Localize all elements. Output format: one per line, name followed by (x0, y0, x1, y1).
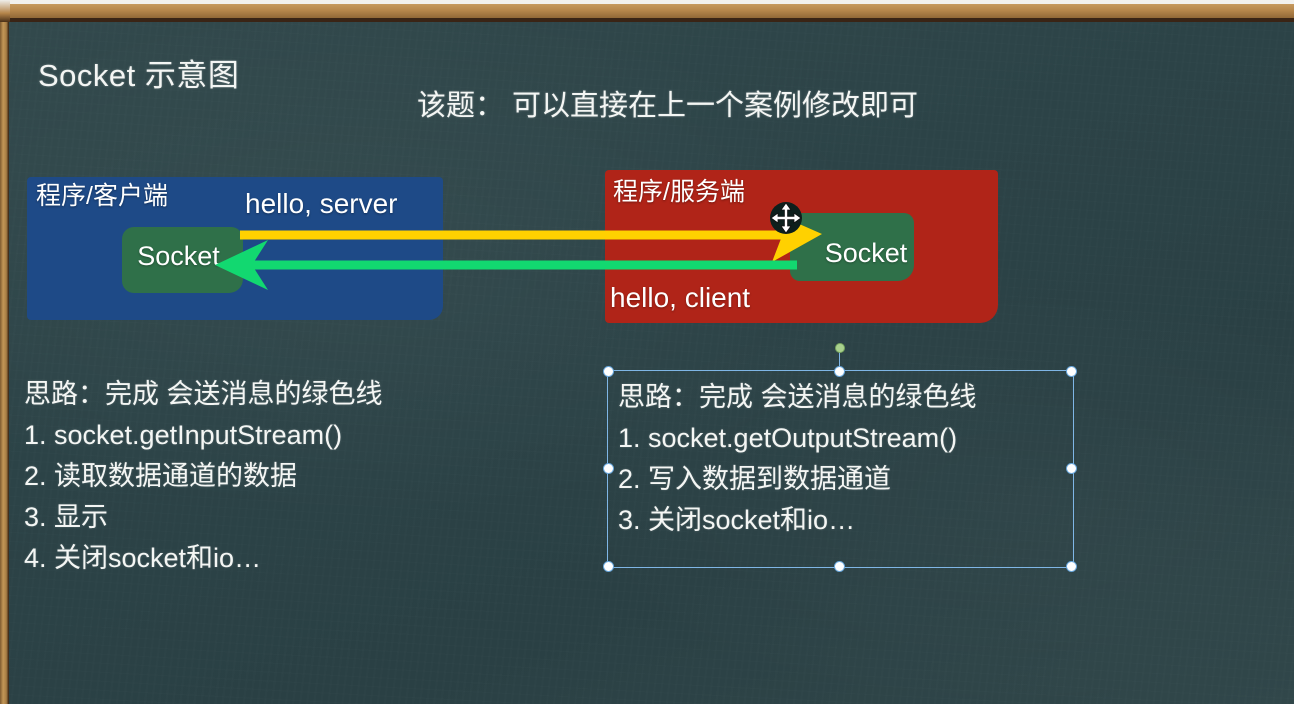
client-socket-label: Socket (137, 241, 220, 272)
message-to-server-label: hello, server (245, 188, 398, 220)
chalkboard-surface (9, 22, 1294, 704)
move-cursor-icon (766, 198, 806, 238)
server-socket-label: Socket (825, 238, 908, 269)
resize-handle-top-left[interactable] (603, 366, 614, 377)
message-to-client-label: hello, client (610, 282, 750, 314)
selection-frame[interactable] (607, 370, 1074, 568)
frame-left-wood (0, 4, 9, 704)
server-box-label: 程序/服务端 (613, 172, 745, 208)
resize-handle-bottom-middle[interactable] (834, 561, 845, 572)
client-box-label: 程序/客户端 (36, 176, 168, 212)
frame-top-wood (0, 4, 1294, 19)
slide-subtitle: 该题： 可以直接在上一个案例修改即可 (417, 82, 918, 124)
note-step: 4. 关闭socket和io… (24, 538, 383, 579)
note-step: 1. socket.getInputStream() (24, 415, 383, 456)
server-socket-box[interactable]: Socket (790, 213, 914, 281)
resize-handle-bottom-right[interactable] (1066, 561, 1077, 572)
client-note-block: 思路：完成 会送消息的绿色线 1. socket.getInputStream(… (24, 374, 383, 579)
frame-corner (0, 0, 10, 22)
resize-handle-top-middle[interactable] (834, 366, 845, 377)
resize-handle-bottom-left[interactable] (603, 561, 614, 572)
resize-handle-middle-left[interactable] (603, 463, 614, 474)
resize-handle-top-right[interactable] (1066, 366, 1077, 377)
note-step: 3. 显示 (24, 497, 383, 538)
client-socket-box[interactable]: Socket (122, 227, 243, 293)
note-heading: 思路：完成 会送消息的绿色线 (24, 374, 383, 415)
page-title: Socket 示意图 (38, 50, 239, 95)
slide-canvas: Socket 示意图 该题： 可以直接在上一个案例修改即可 程序/客户端 Soc… (0, 0, 1294, 704)
rotate-handle[interactable] (835, 343, 845, 353)
note-step: 2. 读取数据通道的数据 (24, 456, 383, 497)
resize-handle-middle-right[interactable] (1066, 463, 1077, 474)
